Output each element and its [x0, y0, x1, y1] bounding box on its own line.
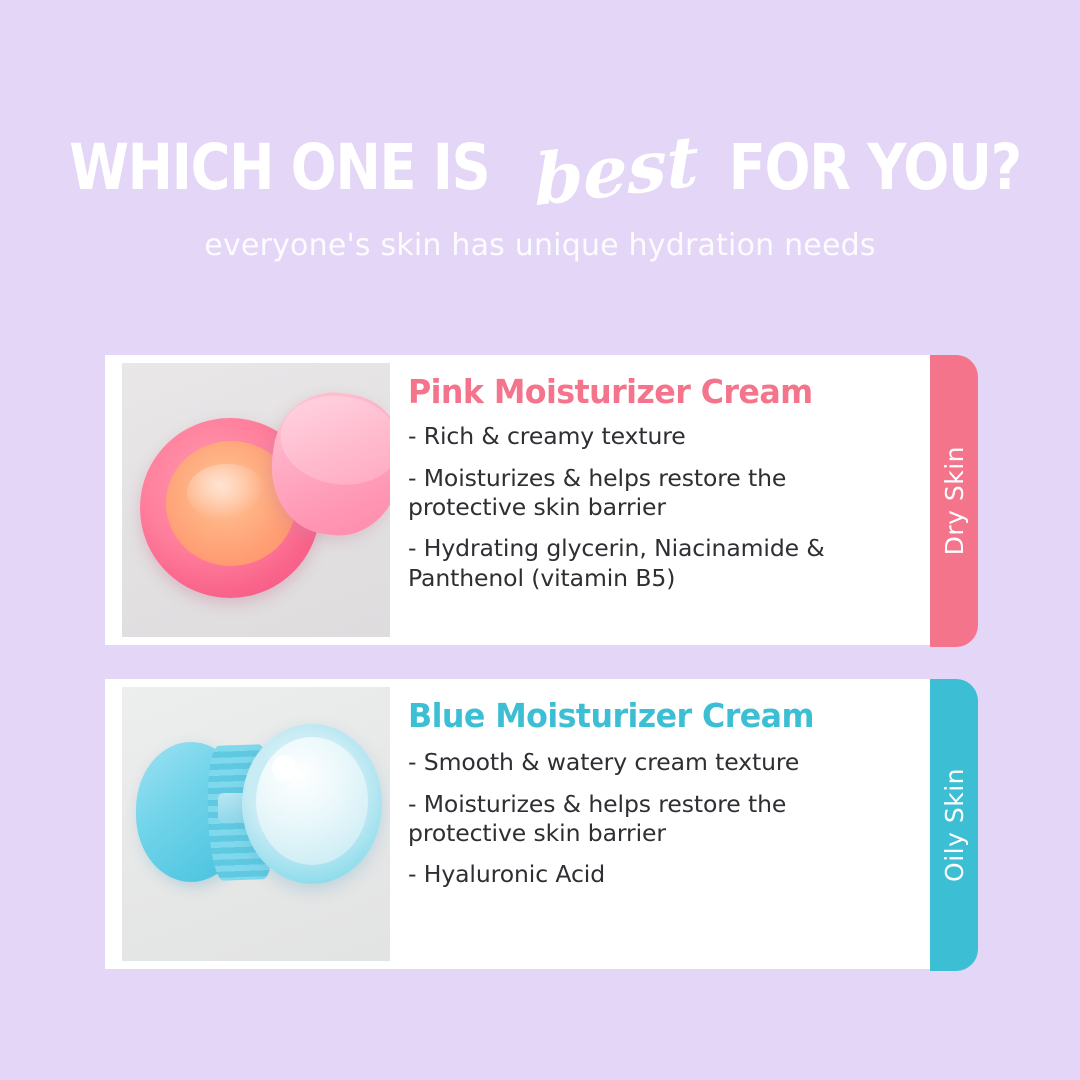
product-card-blue: Blue Moisturizer Cream - Smooth & watery… [105, 679, 930, 969]
page-subtitle: everyone's skin has unique hydration nee… [0, 228, 1080, 263]
blue-gel-surface [256, 737, 368, 865]
headline-post-text: FOR YOU? [729, 136, 1021, 199]
blue-card-body: Blue Moisturizer Cream - Smooth & watery… [390, 679, 930, 969]
bullet-item: - Moisturizes & helps restore the protec… [408, 790, 883, 849]
header-block: WHICH ONE IS best FOR YOU? everyone's sk… [0, 0, 1080, 263]
pink-card-bullets: - Rich & creamy texture - Moisturizes & … [408, 422, 908, 593]
bullet-item: - Hydrating glycerin, Niacinamide & Pant… [408, 534, 883, 593]
skin-type-tab-dry-label: Dry Skin [940, 446, 969, 555]
bullet-item: - Smooth & watery cream texture [408, 748, 883, 777]
pink-moisturizer-jar-photo [122, 363, 390, 637]
bullet-item: - Hyaluronic Acid [408, 860, 883, 889]
pink-card-body: Pink Moisturizer Cream - Rich & creamy t… [390, 355, 930, 645]
skin-type-tab-dry[interactable]: Dry Skin [930, 355, 978, 647]
page-title: WHICH ONE IS best FOR YOU? [0, 128, 1080, 206]
headline-script-word: best [534, 126, 699, 217]
skin-type-tab-oily[interactable]: Oily Skin [930, 679, 978, 971]
blue-card-title: Blue Moisturizer Cream [408, 698, 888, 734]
blue-card-bullets: - Smooth & watery cream texture - Moistu… [408, 748, 908, 890]
skin-type-tab-oily-label: Oily Skin [940, 768, 969, 882]
product-card-pink: Pink Moisturizer Cream - Rich & creamy t… [105, 355, 930, 645]
blue-moisturizer-jar-photo [122, 687, 390, 961]
bullet-item: - Rich & creamy texture [408, 422, 883, 451]
pink-card-title: Pink Moisturizer Cream [408, 374, 888, 410]
headline-pre-text: WHICH ONE IS [69, 136, 489, 199]
bullet-item: - Moisturizes & helps restore the protec… [408, 464, 883, 523]
